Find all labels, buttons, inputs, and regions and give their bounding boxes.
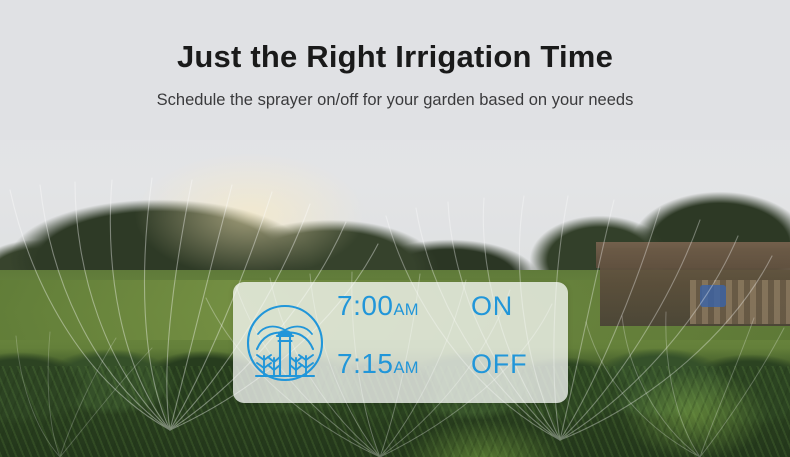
schedule-card[interactable]: 7:00 AM ON 7:15 AM OFF [233, 282, 568, 403]
irrigation-promo-banner: 7:00 AM ON 7:15 AM OFF Just the Right Ir… [0, 0, 790, 457]
schedule-state-off: OFF [465, 349, 527, 380]
schedule-time-off: 7:15 AM [337, 348, 465, 380]
time-ampm-on: AM [394, 301, 419, 320]
schedule-row-on[interactable]: 7:00 AM ON [337, 282, 560, 346]
time-value-off: 7:15 [337, 348, 394, 380]
schedule-time-on: 7:00 AM [337, 290, 465, 322]
time-value-on: 7:00 [337, 290, 394, 322]
schedule-row-off[interactable]: 7:15 AM OFF [337, 346, 560, 404]
page-title: Just the Right Irrigation Time [177, 41, 613, 72]
page-subtitle: Schedule the sprayer on/off for your gar… [157, 92, 634, 109]
banner-header: Just the Right Irrigation Time Schedule … [0, 0, 790, 140]
time-ampm-off: AM [394, 359, 419, 378]
sun-glow [130, 150, 370, 280]
schedule-rows: 7:00 AM ON 7:15 AM OFF [337, 282, 568, 403]
schedule-state-on: ON [465, 291, 513, 322]
sprinkler-icon [233, 304, 337, 382]
blue-tarp [700, 285, 726, 307]
